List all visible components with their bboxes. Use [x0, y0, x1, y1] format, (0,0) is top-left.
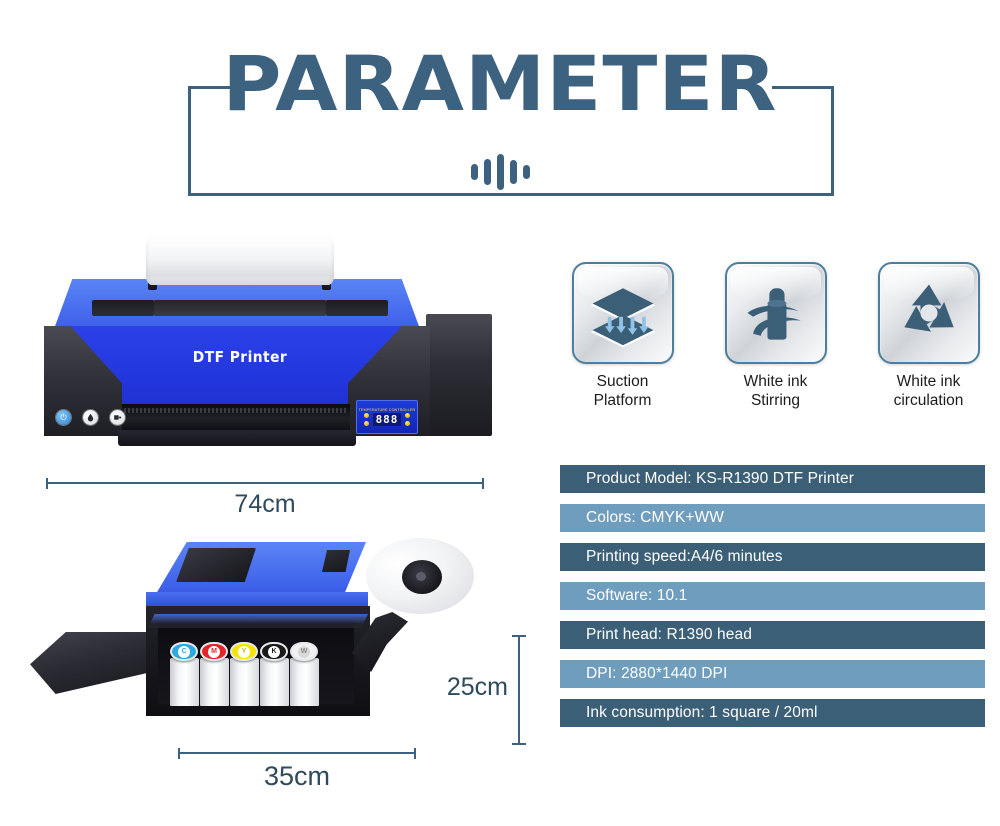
ink-body-yellow: [230, 658, 259, 706]
control-button-group: ⏻: [56, 410, 125, 425]
page-title: PARAMETER: [0, 46, 1000, 122]
wave-bar-1: [471, 164, 478, 180]
output-tray: [118, 430, 356, 446]
angle-top-window: [176, 548, 256, 582]
spec-row-software: Software: 10.1: [560, 582, 985, 610]
feature-white-ink-stirring: White ink Stirring: [713, 262, 838, 411]
wave-bar-5: [523, 165, 530, 179]
parameter-page: PARAMETER DTF Printer ⏻: [0, 0, 1000, 826]
wave-bar-2: [484, 159, 491, 185]
ink-body-white: [290, 658, 319, 706]
ink-body-black: [260, 658, 289, 706]
temperature-panel-caption: TEMPERATURE CONTROLLER: [359, 408, 416, 412]
ink-letter-cyan: C: [178, 646, 190, 658]
printer-front-view: DTF Printer ⏻ TEMPERATURE CONTROLLER: [40, 234, 495, 469]
dim-line: [46, 482, 484, 484]
dimension-height-label: 25cm: [447, 673, 508, 702]
feature-caption-line2: Stirring: [713, 392, 838, 411]
ink-bottle-group: C M Y K: [170, 642, 319, 706]
ink-cap-black: K: [260, 642, 288, 661]
top-slot-left: [92, 300, 154, 316]
feature-suction-platform: Suction Platform: [560, 262, 685, 411]
feature-caption: White ink circulation: [866, 373, 991, 411]
wave-bar-3: [497, 154, 504, 190]
temperature-panel-row: 888: [364, 413, 411, 426]
spec-row-printing-speed: Printing speed:A4/6 minutes: [560, 543, 985, 571]
printer-rear-module: [426, 314, 492, 436]
feature-caption: Suction Platform: [560, 373, 685, 411]
ink-letter-yellow: Y: [238, 646, 250, 658]
feature-caption-line1: White ink: [866, 373, 991, 392]
spec-row-dpi: DPI: 2880*1440 DPI: [560, 660, 985, 688]
temperature-display: 888: [373, 413, 402, 426]
power-button[interactable]: ⏻: [56, 410, 71, 425]
ink-body-magenta: [200, 658, 229, 706]
wave-bar-4: [510, 160, 517, 184]
print-gap: [122, 404, 350, 430]
ink-bottle-black: K: [260, 642, 289, 706]
printer-angle-view: C M Y K: [30, 520, 500, 770]
feature-caption-line2: Platform: [560, 392, 685, 411]
feature-tile: [878, 262, 980, 364]
stirring-icon: [738, 275, 814, 351]
feature-tile-group: Suction Platform White ink Stirring: [560, 262, 992, 411]
spec-row-colors: Colors: CMYK+WW: [560, 504, 985, 532]
dim-tick-right: [482, 478, 484, 489]
feature-caption-line1: Suction: [560, 373, 685, 392]
ink-cap-white: W: [290, 642, 318, 661]
feature-caption-line1: White ink: [713, 373, 838, 392]
ink-cap-magenta: M: [200, 642, 228, 661]
top-slot-right: [326, 300, 388, 316]
feature-tile: [725, 262, 827, 364]
angle-roll-hub: [402, 560, 442, 594]
ink-letter-black: K: [268, 646, 280, 658]
waveform-decoration: [0, 152, 1000, 192]
ink-drop-icon[interactable]: [83, 410, 98, 425]
temp-button-3[interactable]: [405, 413, 410, 418]
feature-tile: [572, 262, 674, 364]
angle-inner-shelf: [148, 614, 368, 628]
dim-height-tick-bottom: [512, 743, 526, 745]
suction-platform-icon: [585, 275, 661, 351]
ink-bottle-cyan: C: [170, 642, 199, 706]
brand-label: DTF Printer: [157, 348, 323, 366]
spec-row-ink-consumption: Ink consumption: 1 square / 20ml: [560, 699, 985, 727]
temperature-buttons-left[interactable]: [364, 413, 369, 426]
ink-bottle-yellow: Y: [230, 642, 259, 706]
feature-caption: White ink Stirring: [713, 373, 838, 411]
dimension-width-label: 74cm: [46, 490, 484, 519]
ink-body-cyan: [170, 658, 199, 706]
temp-button-2[interactable]: [364, 421, 369, 426]
spec-row-product-model: Product Model: KS-R1390 DTF Printer: [560, 465, 985, 493]
feature-caption-line2: circulation: [866, 392, 991, 411]
ink-bottle-white: W: [290, 642, 319, 706]
dim-depth-tick-right: [414, 748, 416, 759]
temperature-buttons-right[interactable]: [405, 413, 410, 426]
dimension-depth-35: 35cm: [178, 748, 416, 794]
temperature-controller-panel[interactable]: TEMPERATURE CONTROLLER 888: [356, 400, 418, 434]
dimension-height-25: 25cm: [442, 635, 532, 745]
ink-letter-white: W: [298, 646, 310, 658]
ink-bottle-magenta: M: [200, 642, 229, 706]
dimension-depth-label: 35cm: [178, 761, 416, 792]
top-slot-middle: [154, 300, 326, 316]
dim-height-line: [518, 635, 520, 745]
ink-letter-magenta: M: [208, 646, 220, 658]
recycle-icon: [891, 275, 967, 351]
spec-row-print-head: Print head: R1390 head: [560, 621, 985, 649]
paper-feed-icon[interactable]: [110, 410, 125, 425]
specification-table: Product Model: KS-R1390 DTF Printer Colo…: [560, 465, 985, 738]
ink-cap-cyan: C: [170, 642, 198, 661]
angle-output-tray: [30, 632, 158, 694]
ink-cap-yellow: Y: [230, 642, 258, 661]
temp-button-1[interactable]: [364, 413, 369, 418]
feature-white-ink-circulation: White ink circulation: [866, 262, 991, 411]
temp-button-4[interactable]: [405, 421, 410, 426]
dimension-width-74: 74cm: [46, 478, 484, 518]
paper-roll: [146, 238, 334, 285]
dim-depth-line: [178, 752, 416, 754]
